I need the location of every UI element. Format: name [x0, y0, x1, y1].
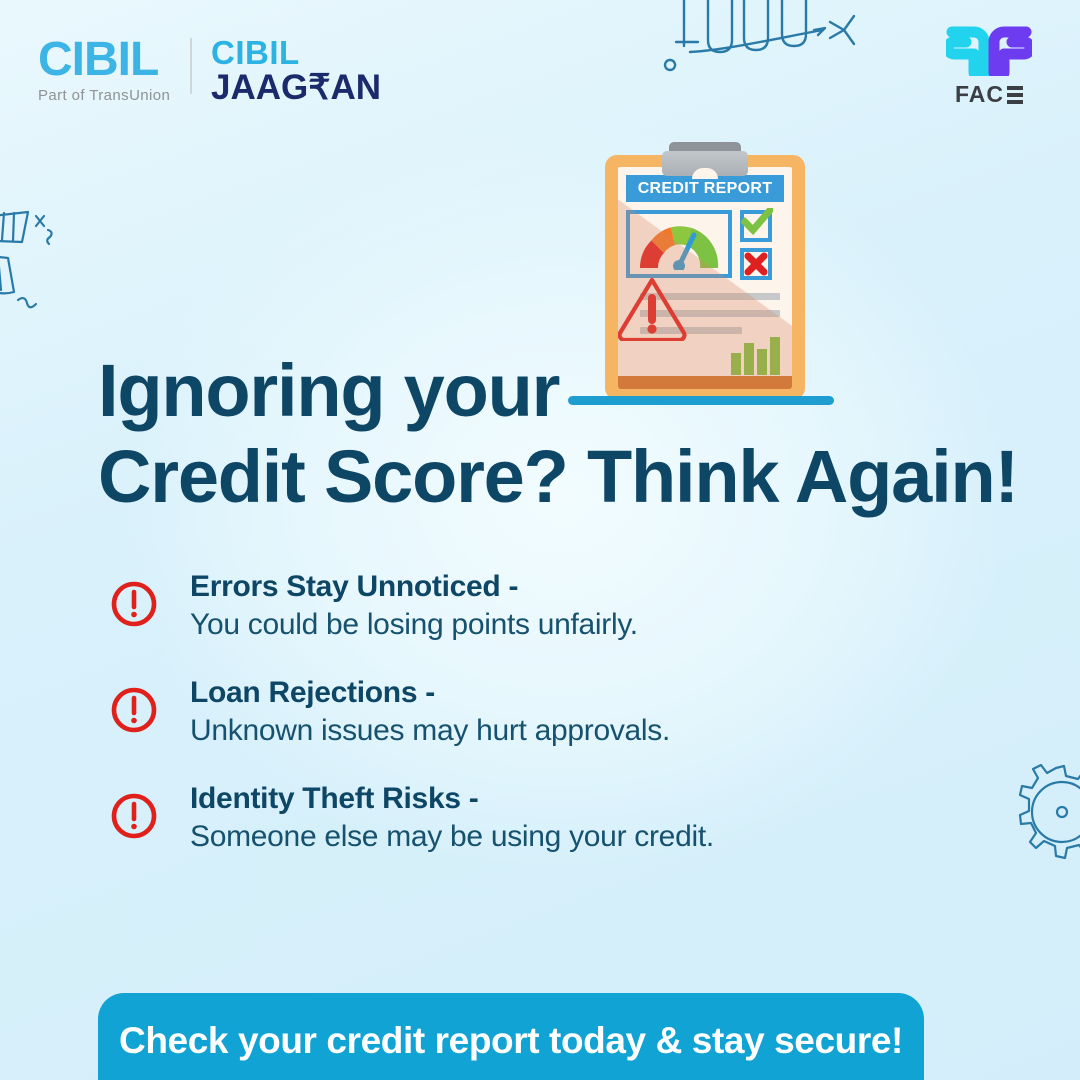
jaagran-logo-line2: JAAG₹AN	[211, 70, 381, 105]
cibil-jaagran-logo: CIBIL JAAG₹AN	[211, 36, 381, 105]
face-logo: FAC	[946, 24, 1032, 106]
logo-divider	[190, 38, 192, 94]
list-item-subtitle: You could be losing points unfairly.	[190, 605, 638, 645]
poster-canvas: CIBIL Part of TransUnion CIBIL JAAG₹AN F…	[0, 0, 1080, 1080]
list-item-subtitle: Unknown issues may hurt approvals.	[190, 711, 670, 751]
list-item-title: Identity Theft Risks -	[190, 780, 714, 817]
cta-label: Check your credit report today & stay se…	[119, 1020, 903, 1062]
jaagran-logo-line1: CIBIL	[211, 36, 381, 69]
list-item-text: Loan Rejections - Unknown issues may hur…	[162, 674, 670, 751]
list-item: Identity Theft Risks - Someone else may …	[110, 780, 970, 857]
page-title: Ignoring your Credit Score? Think Again!	[98, 348, 978, 520]
face-wings-icon	[946, 24, 1032, 76]
pie-chart-doodle	[0, 168, 76, 318]
exclamation-circle-icon	[110, 568, 162, 633]
list-item-title: Loan Rejections -	[190, 674, 670, 711]
clipboard-clip-notch	[692, 168, 718, 179]
gear-doodle	[1016, 762, 1080, 874]
cta-banner[interactable]: Check your credit report today & stay se…	[98, 993, 924, 1080]
list-item: Loan Rejections - Unknown issues may hur…	[110, 674, 970, 751]
exclamation-circle-icon	[110, 780, 162, 845]
risk-list: Errors Stay Unnoticed - You could be los…	[110, 568, 970, 886]
face-wordmark: FAC	[946, 83, 1032, 106]
list-item-subtitle: Someone else may be using your credit.	[190, 817, 714, 857]
cibil-logo: CIBIL Part of TransUnion	[38, 36, 170, 104]
face-e-glyph-icon	[1007, 86, 1023, 104]
headline-line-1: Ignoring your	[98, 348, 978, 434]
list-item-text: Errors Stay Unnoticed - You could be los…	[162, 568, 638, 645]
list-item: Errors Stay Unnoticed - You could be los…	[110, 568, 970, 645]
cibil-tagline: Part of TransUnion	[38, 87, 170, 104]
headline-line-2: Credit Score? Think Again!	[98, 434, 978, 520]
list-item-text: Identity Theft Risks - Someone else may …	[162, 780, 714, 857]
exclamation-circle-icon	[110, 674, 162, 739]
face-wordmark-text: FAC	[955, 83, 1004, 106]
header: CIBIL Part of TransUnion CIBIL JAAG₹AN F…	[0, 0, 1080, 130]
list-item-title: Errors Stay Unnoticed -	[190, 568, 638, 605]
cibil-wordmark: CIBIL	[38, 36, 170, 84]
